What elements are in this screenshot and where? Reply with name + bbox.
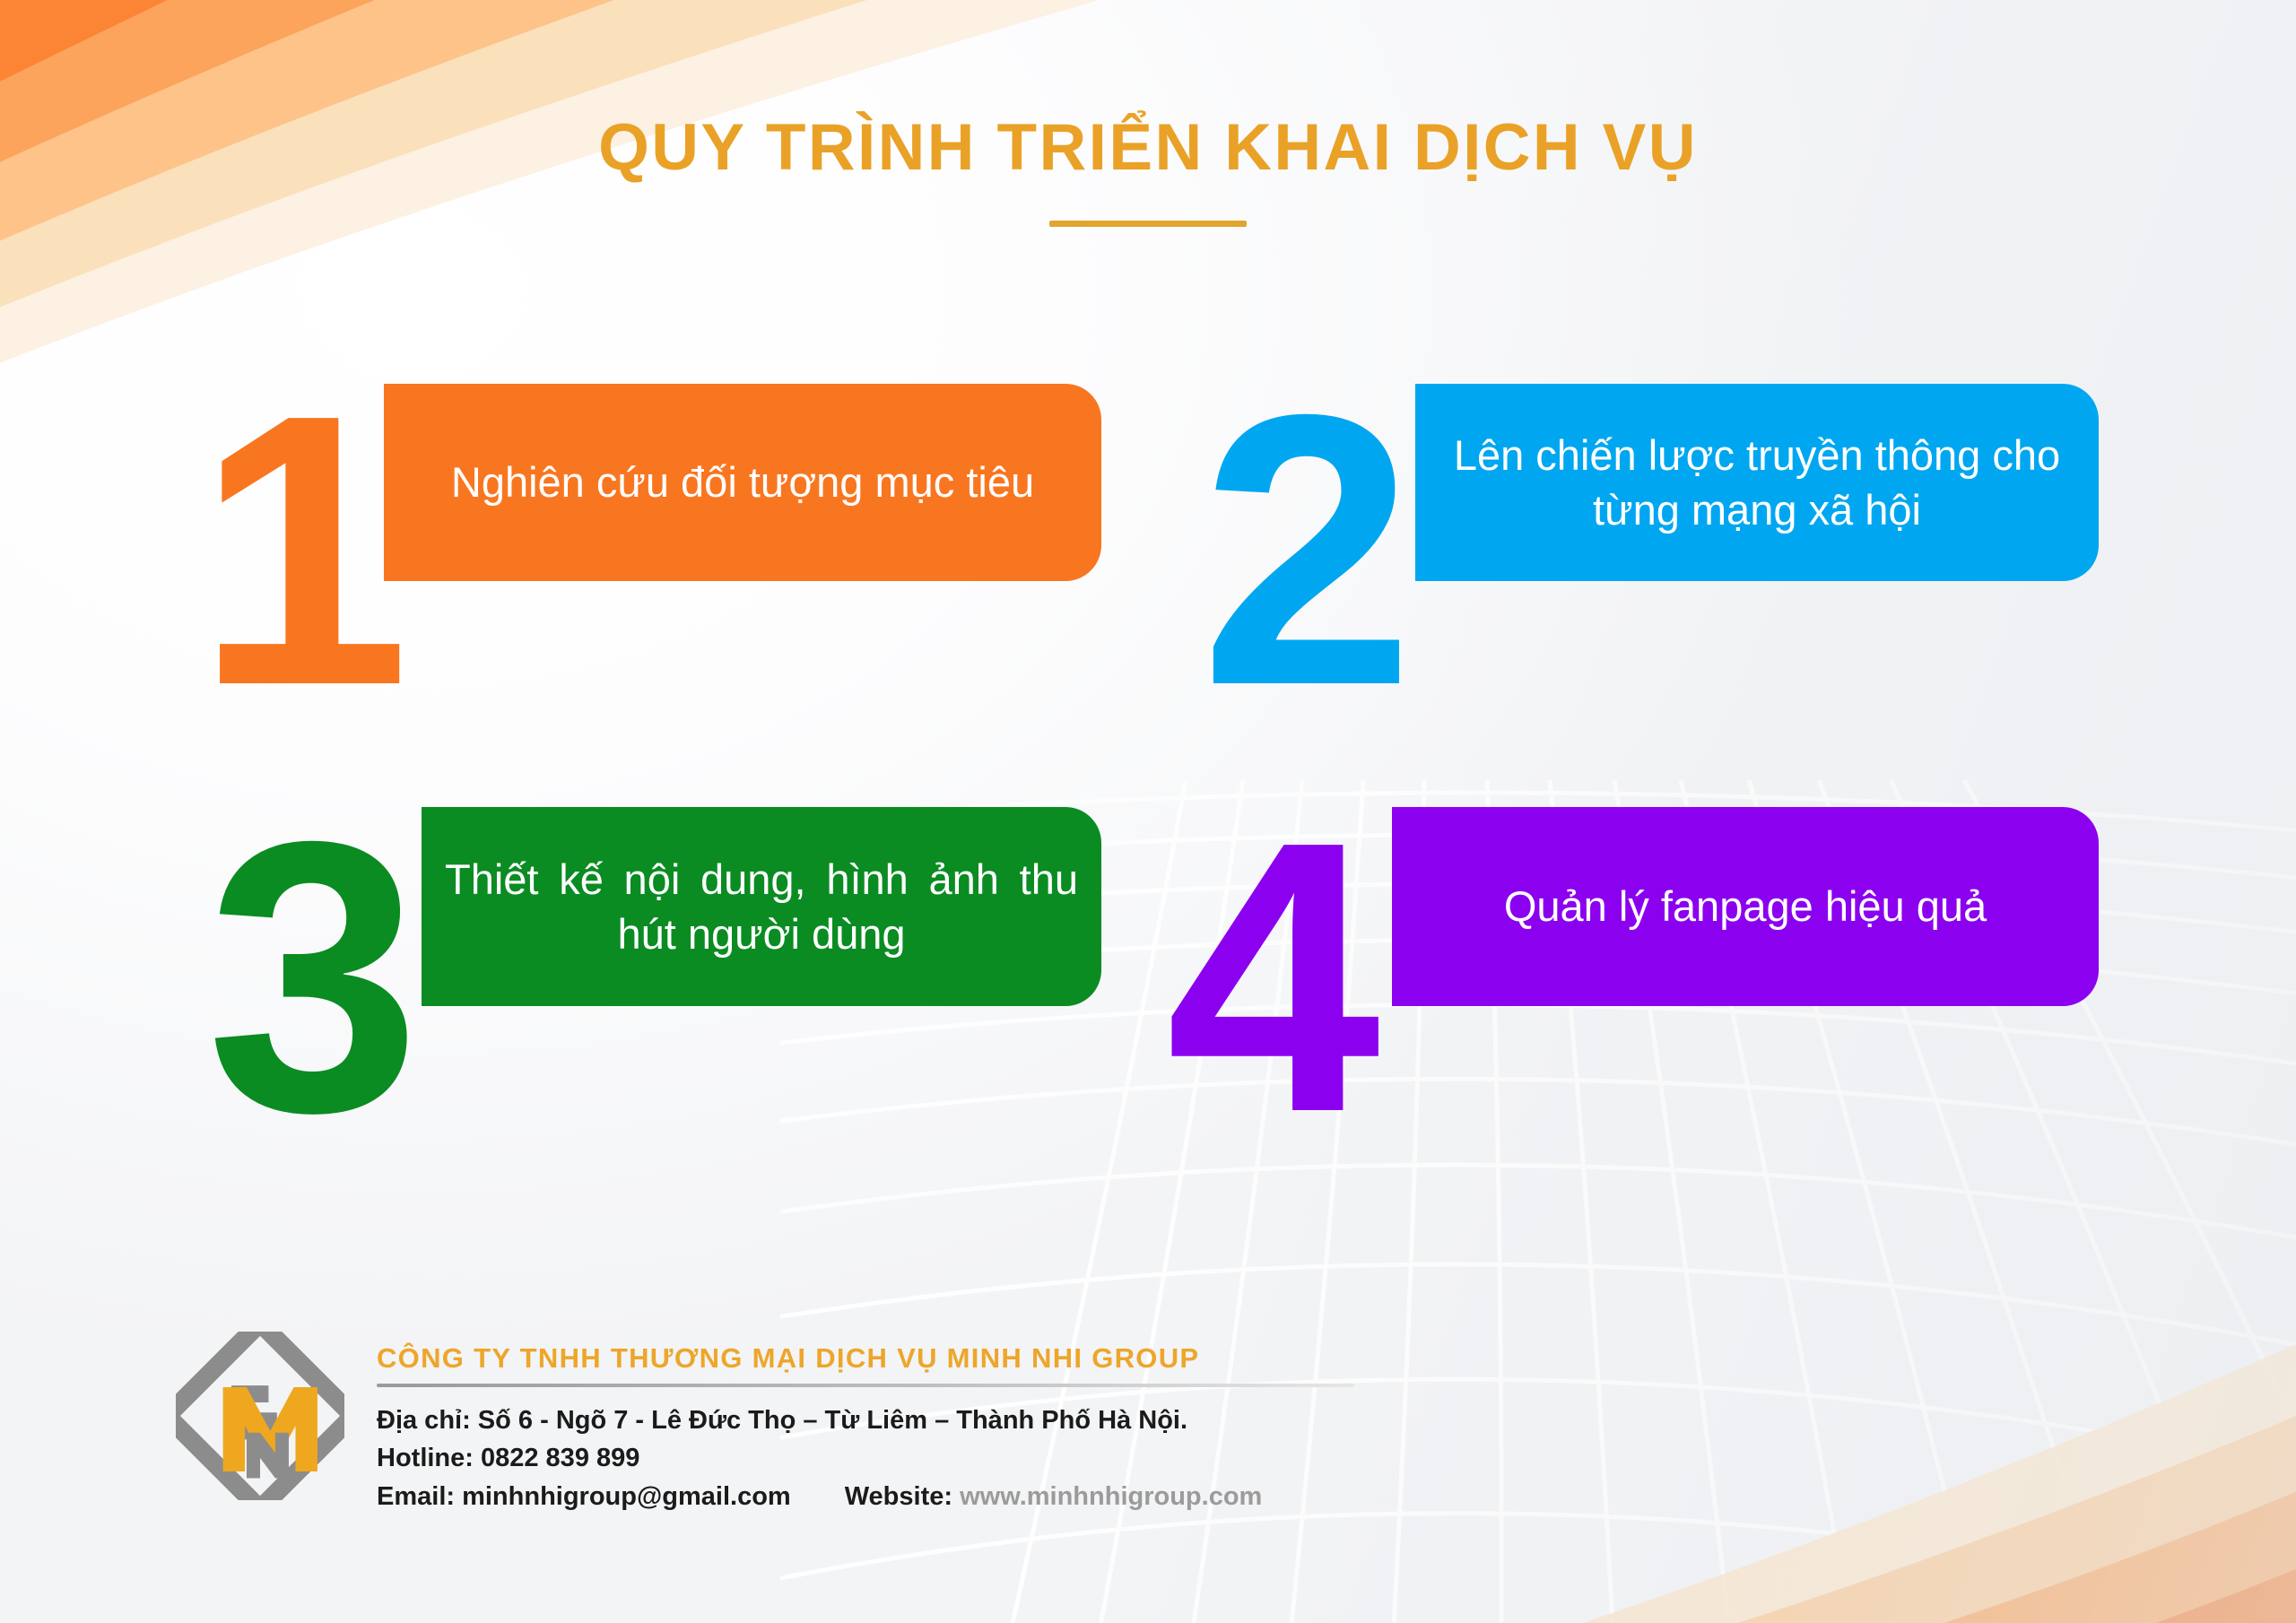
step-text-1: Nghiên cứu đối tượng mục tiêu (384, 455, 1101, 509)
page-title-block: QUY TRÌNH TRIỂN KHAI DỊCH VỤ (0, 115, 2296, 227)
company-email[interactable]: Email: minhnhigroup@gmail.com (377, 1478, 791, 1515)
company-logo-icon (176, 1332, 344, 1500)
infographic-poster: QUY TRÌNH TRIỂN KHAI DỊCH VỤ 1 Nghiên cứ… (0, 0, 2296, 1623)
step-label-bar-4[interactable]: Quản lý fanpage hiệu quả (1392, 807, 2099, 1006)
page-title: QUY TRÌNH TRIỂN KHAI DỊCH VỤ (0, 115, 2296, 180)
company-address: Địa chỉ: Số 6 - Ngõ 7 - Lê Đức Thọ – Từ … (377, 1402, 1354, 1439)
step-label-bar-2[interactable]: Lên chiến lược truyền thông cho từng mạn… (1415, 384, 2099, 581)
step-number-1: 1 (196, 358, 410, 743)
company-name: CÔNG TY TNHH THƯƠNG MẠI DỊCH VỤ MINH NHI… (377, 1342, 1354, 1375)
website-label: Website: (845, 1482, 952, 1511)
footer-text: CÔNG TY TNHH THƯƠNG MẠI DỊCH VỤ MINH NHI… (377, 1326, 1354, 1515)
company-hotline[interactable]: Hotline: 0822 839 899 (377, 1439, 1354, 1477)
footer-contact-block: CÔNG TY TNHH THƯƠNG MẠI DỊCH VỤ MINH NHI… (176, 1326, 1354, 1515)
step-text-3: Thiết kế nội dung, hình ảnh thu hút ngườ… (422, 852, 1101, 961)
step-number-4: 4 (1166, 785, 1380, 1170)
footer-contact-row: Email: minhnhigroup@gmail.com Website: w… (377, 1478, 1354, 1515)
step-number-2: 2 (1200, 358, 1414, 743)
title-underline-rule (1049, 221, 1247, 227)
step-label-bar-1[interactable]: Nghiên cứu đối tượng mục tiêu (384, 384, 1101, 581)
footer-divider (377, 1384, 1354, 1387)
step-number-3: 3 (206, 785, 421, 1170)
step-label-bar-3[interactable]: Thiết kế nội dung, hình ảnh thu hút ngườ… (422, 807, 1101, 1006)
process-steps: 1 Nghiên cứu đối tượng mục tiêu 2 Lên ch… (0, 372, 2296, 1224)
company-website[interactable]: Website: www.minhnhigroup.com (845, 1478, 1263, 1515)
website-url[interactable]: www.minhnhigroup.com (960, 1482, 1262, 1511)
step-text-4: Quản lý fanpage hiệu quả (1392, 879, 2099, 933)
step-text-2: Lên chiến lược truyền thông cho từng mạn… (1415, 428, 2099, 537)
